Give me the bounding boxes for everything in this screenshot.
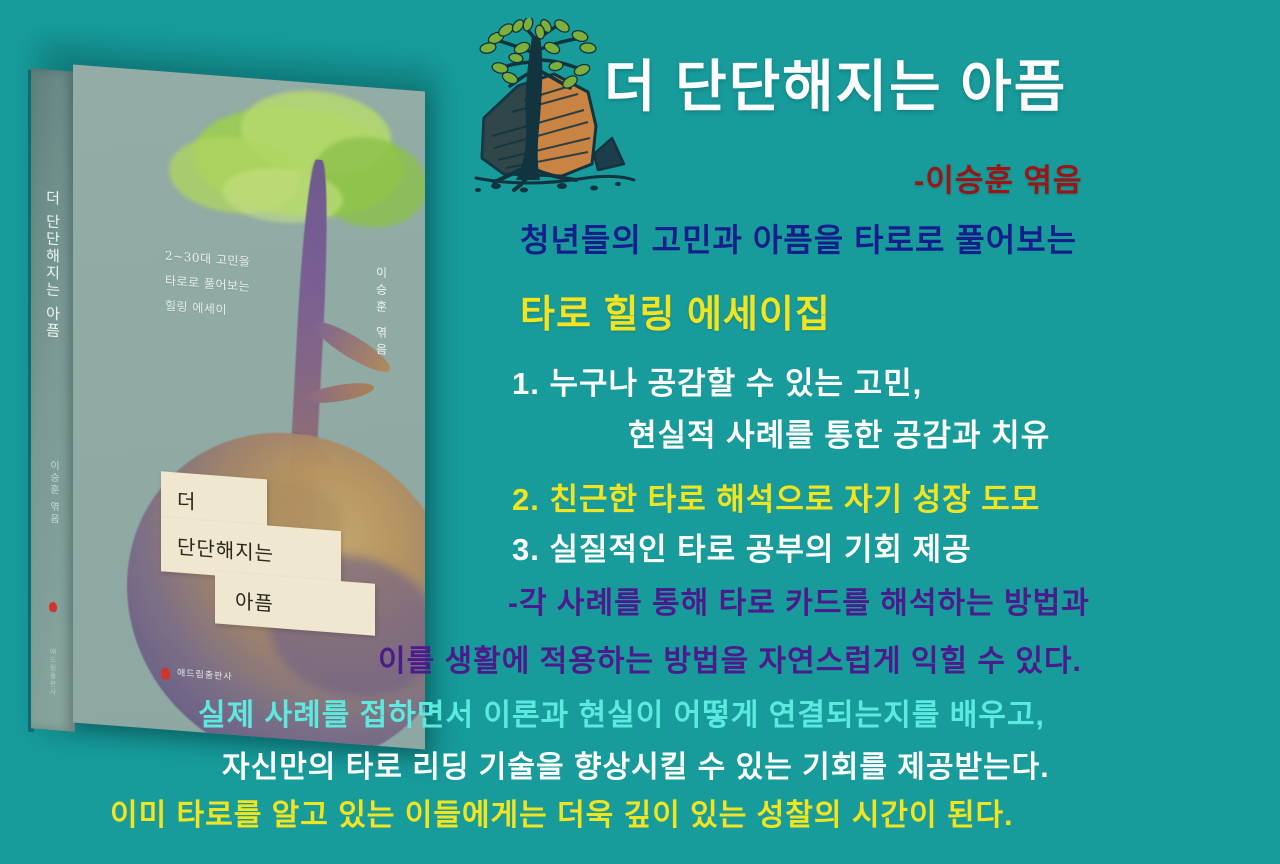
selling-point-2: 2. 친근한 타로 해석으로 자기 성장 도모	[512, 474, 1040, 519]
poster-tagline: 청년들의 고민과 아픔을 타로로 풀어보는	[520, 215, 1077, 261]
selling-point-1-line-2: 현실적 사례를 통한 공감과 치유	[628, 410, 1050, 455]
book-front-cover: 2~30대 고민을 타로로 풀어보는 힐링 에세이 이승훈 엮음 더 단단해지는…	[73, 64, 425, 749]
cover-title-block: 더 단단해지는 아픔	[161, 471, 376, 638]
publisher-logo-icon	[161, 667, 170, 680]
description-line-1: -각 사례를 통해 타로 카드를 해석하는 방법과	[508, 578, 1090, 622]
cover-title-line-3: 아픔	[235, 585, 274, 617]
poster-genre: 타로 힐링 에세이집	[520, 283, 831, 338]
description-line-3: 실제 사례를 접하면서 이론과 현실이 어떻게 연결되는지를 배우고,	[198, 690, 1045, 734]
publisher-logo-icon	[49, 602, 57, 613]
spine-publisher: 애드림출판사	[48, 648, 58, 697]
cover-title-line-1: 더	[177, 484, 196, 514]
poster-headline: 더 단단해지는 아픔	[604, 42, 1067, 123]
description-line-4: 자신만의 타로 리딩 기술을 향상시킬 수 있는 기회를 제공받는다.	[222, 742, 1050, 786]
poster-author: -이승훈 엮음	[914, 155, 1083, 200]
selling-point-3: 3. 실질적인 타로 공부의 기회 제공	[512, 524, 972, 569]
cover-artwork	[73, 64, 425, 749]
cover-author: 이승훈 엮음	[373, 266, 390, 361]
spine-title: 더 단단해지는 아픔	[43, 189, 64, 340]
description-line-2: 이를 생활에 적용하는 방법을 자연스럽게 익힐 수 있다.	[378, 636, 1082, 680]
selling-point-1-line-1: 1. 누구나 공감할 수 있는 고민,	[512, 358, 922, 403]
spine-author: 이승훈 엮음	[46, 459, 61, 525]
book-spine: 더 단단해지는 아픔 이승훈 엮음 애드림출판사	[31, 68, 75, 731]
promo-poster: 더 단단해지는 아픔 이승훈 엮음 애드림출판사 2~30대 고	[0, 0, 1280, 864]
cover-subcopy: 2~30대 고민을 타로로 풀어보는 힐링 에세이	[165, 244, 250, 326]
description-line-5: 이미 타로를 알고 있는 이들에게는 더욱 깊이 있는 성찰의 시간이 된다.	[110, 790, 1013, 834]
